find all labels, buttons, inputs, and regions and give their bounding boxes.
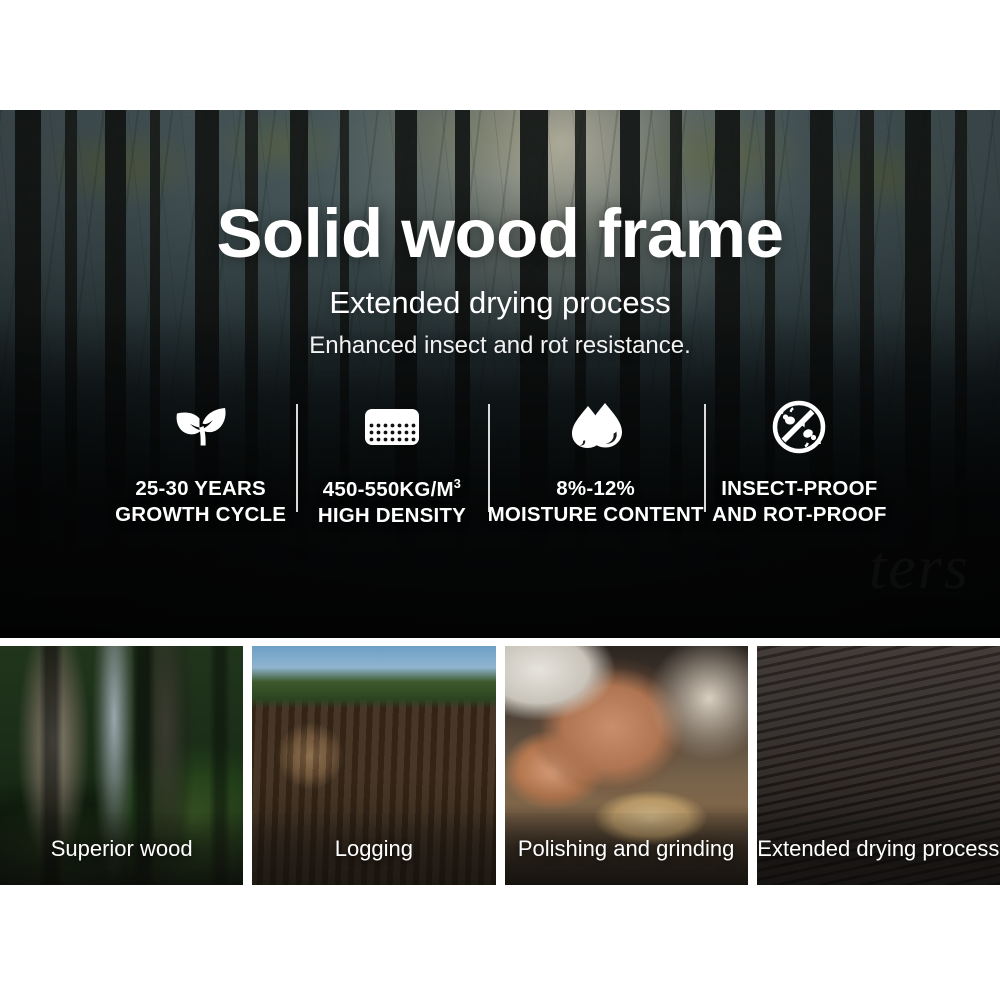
tile-caption: Polishing and grinding [505,813,748,885]
feature-label: INSECT-PROOF AND ROT-PROOF [712,476,887,528]
process-tile-superior-wood[interactable]: Superior wood [0,646,243,885]
feature-high-density: 450-550KG/M3 HIGH DENSITY [296,398,487,529]
feature-label: 450-550KG/M3 HIGH DENSITY [318,476,466,529]
feature-list: 25-30 YEARS GROWTH CYCLE [105,398,895,538]
tile-caption-text: Extended drying process [757,838,999,860]
feature-insect-rot-proof: INSECT-PROOF AND ROT-PROOF [704,398,895,528]
tile-caption-text: Polishing and grinding [518,838,735,860]
feature-label: 25-30 YEARS GROWTH CYCLE [115,476,286,528]
tile-caption: Logging [252,813,495,885]
process-image-strip: Superior wood Logging Polishing and grin… [0,646,1000,885]
hero-copy: Solid wood frame Extended drying process… [0,110,1000,360]
tile-caption: Superior wood [0,813,243,885]
hero-description: Enhanced insect and rot resistance. [0,332,1000,360]
hero-title: Solid wood frame [0,199,1000,268]
feature-line-2: GROWTH CYCLE [115,503,286,526]
feature-line-1: 450-550KG/M [323,478,454,501]
feature-line-1: INSECT-PROOF [721,477,877,500]
process-tile-drying[interactable]: Extended drying process [757,646,1000,885]
hero-subtitle: Extended drying process [0,286,1000,320]
watermark-text: ters [869,533,970,604]
density-mattress-icon [361,398,423,456]
process-tile-logging[interactable]: Logging [252,646,495,885]
feature-label: 8%-12% MOISTURE CONTENT [488,476,704,528]
tile-caption-text: Logging [335,838,413,860]
tile-caption: Extended drying process [757,813,1000,885]
feature-line-2: AND ROT-PROOF [712,503,887,526]
feature-moisture-content: 8%-12% MOISTURE CONTENT [488,398,704,528]
feature-line-2: MOISTURE CONTENT [488,503,704,526]
leaf-icon [172,398,230,456]
no-insect-icon [771,398,827,456]
tile-caption-text: Superior wood [51,838,193,860]
process-tile-polishing[interactable]: Polishing and grinding [505,646,748,885]
feature-line-2: HIGH DENSITY [318,504,466,527]
feature-line-1: 8%-12% [556,477,635,500]
water-drop-icon [566,398,626,456]
feature-line-1: 25-30 YEARS [135,477,266,500]
feature-line-1-superscript: 3 [454,476,461,491]
feature-growth-cycle: 25-30 YEARS GROWTH CYCLE [105,398,296,528]
hero-section: ters Solid wood frame Extended drying pr… [0,110,1000,638]
promo-banner: ters Solid wood frame Extended drying pr… [0,0,1000,1000]
